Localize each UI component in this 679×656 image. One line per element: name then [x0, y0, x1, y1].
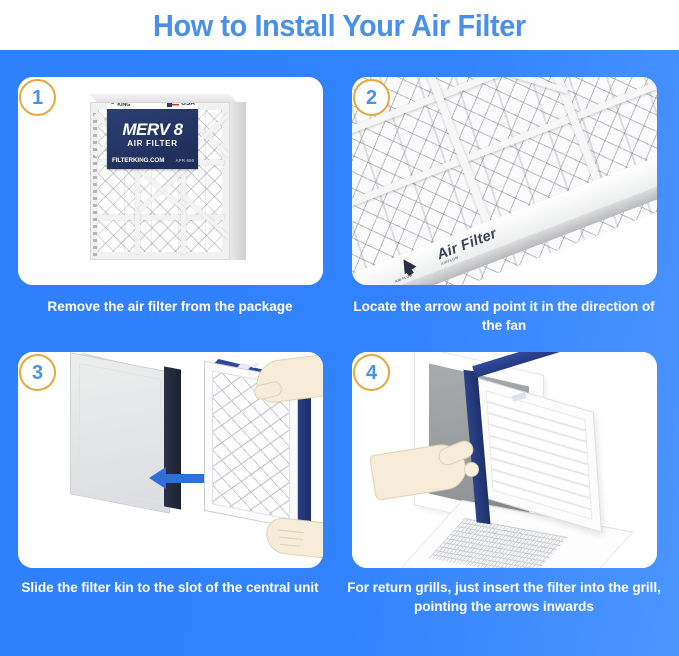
direction-arrow-shaft	[164, 474, 208, 483]
hand-crease	[278, 529, 304, 533]
step-card-1[interactable]: ♛ FILTER KING	[18, 77, 323, 285]
step-card-4[interactable]	[352, 352, 657, 568]
product-type-text: AIR FILTER	[107, 140, 198, 148]
step-card-2[interactable]: AIR FLOW Air Filter AIRFLOW	[352, 77, 657, 285]
filter-pleat-ticks	[93, 113, 97, 260]
central-unit-front	[70, 352, 170, 513]
usa-flag-icon	[167, 102, 179, 107]
step-caption-3: Slide the filter kin to the slot of the …	[10, 578, 330, 597]
steps-grid: ♛ FILTER KING	[0, 50, 679, 656]
step-caption-4: For return grills, just insert the filte…	[344, 578, 664, 616]
filter-side-face	[229, 102, 246, 260]
hand-crease	[280, 544, 300, 547]
grill-louvers	[486, 390, 593, 520]
filter-corner-photo: AIR FLOW Air Filter AIRFLOW	[352, 77, 657, 285]
step-card-1-surface: ♛ FILTER KING	[18, 77, 323, 285]
country-text: USA	[181, 102, 195, 107]
header-bar: How to Install Your Air Filter	[0, 0, 679, 50]
infographic-page: How to Install Your Air Filter	[0, 0, 679, 656]
step-badge-4: 4	[353, 354, 390, 391]
steps-body: ♛ FILTER KING	[0, 50, 679, 656]
filter-dot-marking	[251, 363, 260, 369]
step-badge-2: 2	[353, 79, 390, 116]
step-card-3[interactable]	[18, 352, 323, 568]
direction-arrow-icon	[149, 467, 166, 489]
step-badge-3: 3	[19, 354, 56, 391]
step-badge-1: 1	[19, 79, 56, 116]
filter-label-header: ♛ FILTER KING	[107, 102, 198, 109]
filter-product-label: ♛ FILTER KING	[107, 107, 198, 169]
step-1-image: ♛ FILTER KING	[18, 77, 323, 285]
hand-thumb-tip	[464, 462, 479, 477]
central-unit-slot	[164, 366, 181, 509]
step-4-image	[352, 352, 657, 568]
return-grill-mesh	[429, 518, 568, 568]
air-filter-product-photo: ♛ FILTER KING	[90, 94, 246, 266]
filter-side-frame	[296, 378, 311, 531]
step-card-4-surface	[352, 352, 657, 568]
usa-text-block: MADE IN USA	[181, 102, 195, 107]
step-caption-2: Locate the arrow and point it in the dir…	[344, 297, 664, 335]
filter-king-logo: ♛ FILTER KING	[110, 102, 135, 108]
brand-line-2: KING	[117, 102, 130, 108]
filter-front-face: ♛ FILTER KING	[90, 102, 230, 260]
step-card-2-surface: AIR FLOW Air Filter AIRFLOW	[352, 77, 657, 285]
hand-lower	[264, 516, 323, 559]
page-title: How to Install Your Air Filter	[153, 10, 526, 41]
website-text: FILTERKING.COM	[112, 157, 164, 164]
made-in-usa-badge: MADE IN USA	[167, 102, 195, 107]
filter-label-footer: FILTERKING.COM APR 650	[112, 157, 194, 164]
step-caption-1: Remove the air filter from the package	[10, 297, 330, 316]
apr-rating-text: APR 650	[175, 158, 194, 163]
step-2-image: AIR FLOW Air Filter AIRFLOW	[352, 77, 657, 285]
brand-name: FILTER KING	[117, 102, 135, 108]
hand-crease	[279, 537, 303, 541]
crown-icon: ♛	[110, 102, 115, 106]
step-card-3-surface	[18, 352, 323, 568]
step-3-image	[18, 352, 323, 568]
merv-rating: MERV 8	[107, 121, 198, 138]
